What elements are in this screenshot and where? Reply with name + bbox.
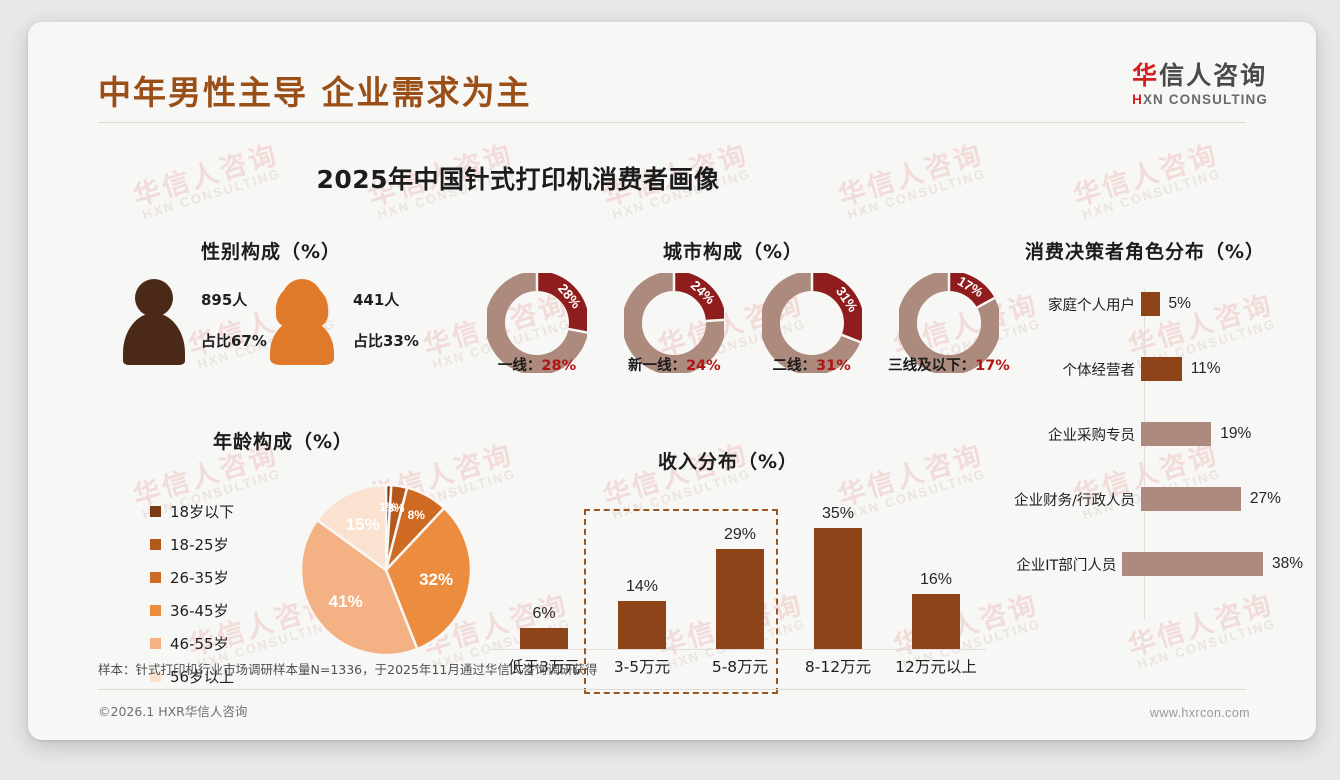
logo-english: HXN CONSULTING: [1132, 92, 1268, 107]
age-legend-row[interactable]: 36-45岁: [150, 594, 234, 627]
age-section: 年龄构成（%） 18岁以下18-25岁26-35岁36-45岁46-55岁56岁…: [123, 427, 483, 677]
city-donut-cell[interactable]: 24%新一线：24%: [615, 273, 733, 373]
female-count: 441人: [353, 289, 399, 310]
income-category-label: 8-12万元: [786, 655, 890, 677]
income-axis-baseline: [490, 649, 986, 650]
city-donut-caption: 新一线：24%: [628, 354, 721, 375]
copyright-text: ©2026.1 HXR华信人咨询: [98, 701, 247, 720]
income-bar-column[interactable]: 14%: [596, 578, 688, 649]
role-bar[interactable]: [1122, 552, 1263, 576]
age-legend-row[interactable]: 18-25岁: [150, 528, 234, 561]
role-bar[interactable]: [1141, 487, 1241, 511]
site-url: www.hxrcon.com: [1150, 706, 1250, 720]
age-legend-label: 18-25岁: [170, 534, 229, 555]
income-category-label: 5-8万元: [688, 655, 792, 677]
city-donut-value: 17%: [975, 358, 1010, 374]
income-section-title: 收入分布（%）: [658, 447, 798, 474]
roles-section: 消费决策者角色分布（%） 家庭个人用户5%个体经营者11%企业采购专员19%企业…: [1013, 237, 1303, 637]
male-head-shape: [135, 279, 173, 317]
city-donut-caption: 二线：31%: [773, 354, 851, 375]
infographic-card: 华信人咨询HXN CONSULTING华信人咨询HXN CONSULTING华信…: [28, 22, 1316, 740]
age-legend-row[interactable]: 18岁以下: [150, 495, 234, 528]
income-bar-column[interactable]: 6%: [498, 605, 590, 649]
pie-slice-label: 32%: [419, 570, 453, 589]
logo-chinese-red-char: 华: [1132, 61, 1159, 90]
city-donut-cell[interactable]: 17%三线及以下：17%: [890, 273, 1008, 373]
income-category-label: 12万元以上: [884, 655, 988, 677]
legend-swatch-icon: [150, 506, 161, 517]
city-donut-label: 一线：: [498, 358, 542, 374]
age-legend-row[interactable]: 26-35岁: [150, 561, 234, 594]
role-bar[interactable]: [1141, 422, 1211, 446]
role-bar-row[interactable]: 企业采购专员19%: [1013, 421, 1303, 447]
chart-main-title: 2025年中国针式打印机消费者画像: [28, 160, 1008, 196]
city-donut-label: 二线：: [773, 358, 817, 374]
watermark-english: HXN CONSULTING: [1078, 166, 1225, 223]
city-section-title: 城市构成（%）: [663, 237, 803, 264]
age-legend-label: 46-55岁: [170, 633, 229, 654]
header: 中年男性主导 企业需求为主 华信人咨询 HXN CONSULTING: [28, 22, 1316, 124]
sample-footnote: 样本：针式打印机行业市场调研样本量N=1336，于2025年11月通过华信人咨询…: [98, 659, 597, 678]
role-bar-row[interactable]: 企业IT部门人员38%: [1013, 551, 1303, 577]
income-bar-value: 16%: [890, 571, 982, 589]
header-divider: [98, 122, 1246, 123]
income-bar[interactable]: [912, 594, 960, 649]
role-category-label: 企业财务/行政人员: [1013, 489, 1141, 510]
income-category-label: 3-5万元: [590, 655, 694, 677]
role-bar-value: 5%: [1169, 295, 1191, 313]
donut-segment-gap: [706, 320, 724, 321]
page-title: 中年男性主导 企业需求为主: [98, 66, 532, 114]
company-logo: 华信人咨询 HXN CONSULTING: [1132, 62, 1268, 107]
city-donut-caption: 一线：28%: [498, 354, 576, 375]
income-bar-value: 35%: [792, 505, 884, 523]
city-donut-value: 24%: [686, 358, 721, 374]
income-bar-value: 6%: [498, 605, 590, 623]
income-section: 收入分布（%） 6%14%29%35%16% 低于3万元3-5万元5-8万元8-…: [478, 447, 1008, 677]
screenshot-root: 华信人咨询HXN CONSULTING华信人咨询HXN CONSULTING华信…: [0, 0, 1340, 780]
income-bar-chart: 6%14%29%35%16%: [490, 489, 996, 649]
legend-swatch-icon: [150, 638, 161, 649]
city-section: 城市构成（%） 28%一线：28%24%新一线：24%31%二线：31%17%三…: [478, 237, 1008, 407]
legend-swatch-icon: [150, 605, 161, 616]
income-bar[interactable]: [618, 601, 666, 649]
role-category-label: 家庭个人用户: [1013, 294, 1141, 315]
city-donut-cell[interactable]: 28%一线：28%: [478, 273, 596, 373]
city-donut-caption: 三线及以下：17%: [888, 354, 1010, 375]
logo-english-rest: XN CONSULTING: [1143, 92, 1268, 107]
pie-slice-label: 3%: [387, 501, 405, 515]
gender-section-title: 性别构成（%）: [201, 237, 341, 264]
footer-divider: [98, 689, 1246, 690]
city-donut-cell[interactable]: 31%二线：31%: [753, 273, 871, 373]
role-bar-value: 38%: [1272, 555, 1303, 573]
income-bar-value: 29%: [694, 526, 786, 544]
male-share: 占比67%: [201, 330, 267, 351]
legend-swatch-icon: [150, 572, 161, 583]
roles-section-title: 消费决策者角色分布（%）: [1025, 237, 1265, 264]
watermark: 华信人咨询HXN CONSULTING: [1070, 141, 1225, 223]
gender-section: 性别构成（%） 895人 占比67% 441人 占比33%: [123, 237, 483, 382]
age-pie-chart: 1%3%8%32%41%15%: [298, 482, 474, 658]
male-silhouette-icon: [123, 279, 185, 365]
female-silhouette-icon: [271, 279, 333, 365]
role-bar-row[interactable]: 企业财务/行政人员27%: [1013, 486, 1303, 512]
legend-swatch-icon: [150, 539, 161, 550]
city-donut-value: 31%: [816, 358, 851, 374]
female-head-shape: [282, 279, 322, 319]
role-bar[interactable]: [1141, 292, 1160, 316]
logo-chinese-rest: 信人咨询: [1159, 61, 1267, 90]
city-donut-row: 28%一线：28%24%新一线：24%31%二线：31%17%三线及以下：17%: [478, 273, 1008, 373]
male-body-shape: [123, 313, 185, 365]
city-donut-value: 28%: [541, 358, 576, 374]
role-bar[interactable]: [1141, 357, 1182, 381]
female-body-shape: [270, 319, 334, 365]
income-bar[interactable]: [716, 549, 764, 649]
income-bar-value: 14%: [596, 578, 688, 596]
age-pie-svg: 1%3%8%32%41%15%: [298, 482, 474, 658]
role-bar-value: 19%: [1220, 425, 1251, 443]
role-category-label: 企业采购专员: [1013, 424, 1141, 445]
female-share: 占比33%: [353, 330, 419, 351]
watermark-chinese: 华信人咨询: [1070, 141, 1222, 212]
age-legend-label: 36-45岁: [170, 600, 229, 621]
pie-slice-label: 15%: [346, 515, 380, 534]
income-bar[interactable]: [814, 528, 862, 649]
age-section-title: 年龄构成（%）: [213, 427, 353, 454]
male-count: 895人: [201, 289, 247, 310]
income-bar-column[interactable]: 29%: [694, 526, 786, 649]
city-donut-label: 新一线：: [628, 358, 686, 374]
role-bar-value: 27%: [1250, 490, 1281, 508]
logo-chinese: 华信人咨询: [1132, 62, 1268, 90]
role-bar-value: 11%: [1191, 360, 1221, 378]
income-bar[interactable]: [520, 628, 568, 649]
role-bar-row[interactable]: 个体经营者11%: [1013, 356, 1303, 382]
role-category-label: 个体经营者: [1013, 359, 1141, 380]
city-donut-label: 三线及以下：: [888, 358, 975, 374]
age-legend-label: 18岁以下: [170, 501, 234, 522]
age-legend-label: 26-35岁: [170, 567, 229, 588]
income-bar-column[interactable]: 16%: [890, 571, 982, 649]
role-category-label: 企业IT部门人员: [1013, 554, 1122, 575]
logo-english-red-char: H: [1132, 92, 1143, 107]
income-bar-column[interactable]: 35%: [792, 505, 884, 649]
pie-slice-label: 41%: [329, 592, 363, 611]
pie-slice-label: 8%: [408, 508, 426, 522]
age-legend-row[interactable]: 46-55岁: [150, 627, 234, 660]
role-bar-row[interactable]: 家庭个人用户5%: [1013, 291, 1303, 317]
